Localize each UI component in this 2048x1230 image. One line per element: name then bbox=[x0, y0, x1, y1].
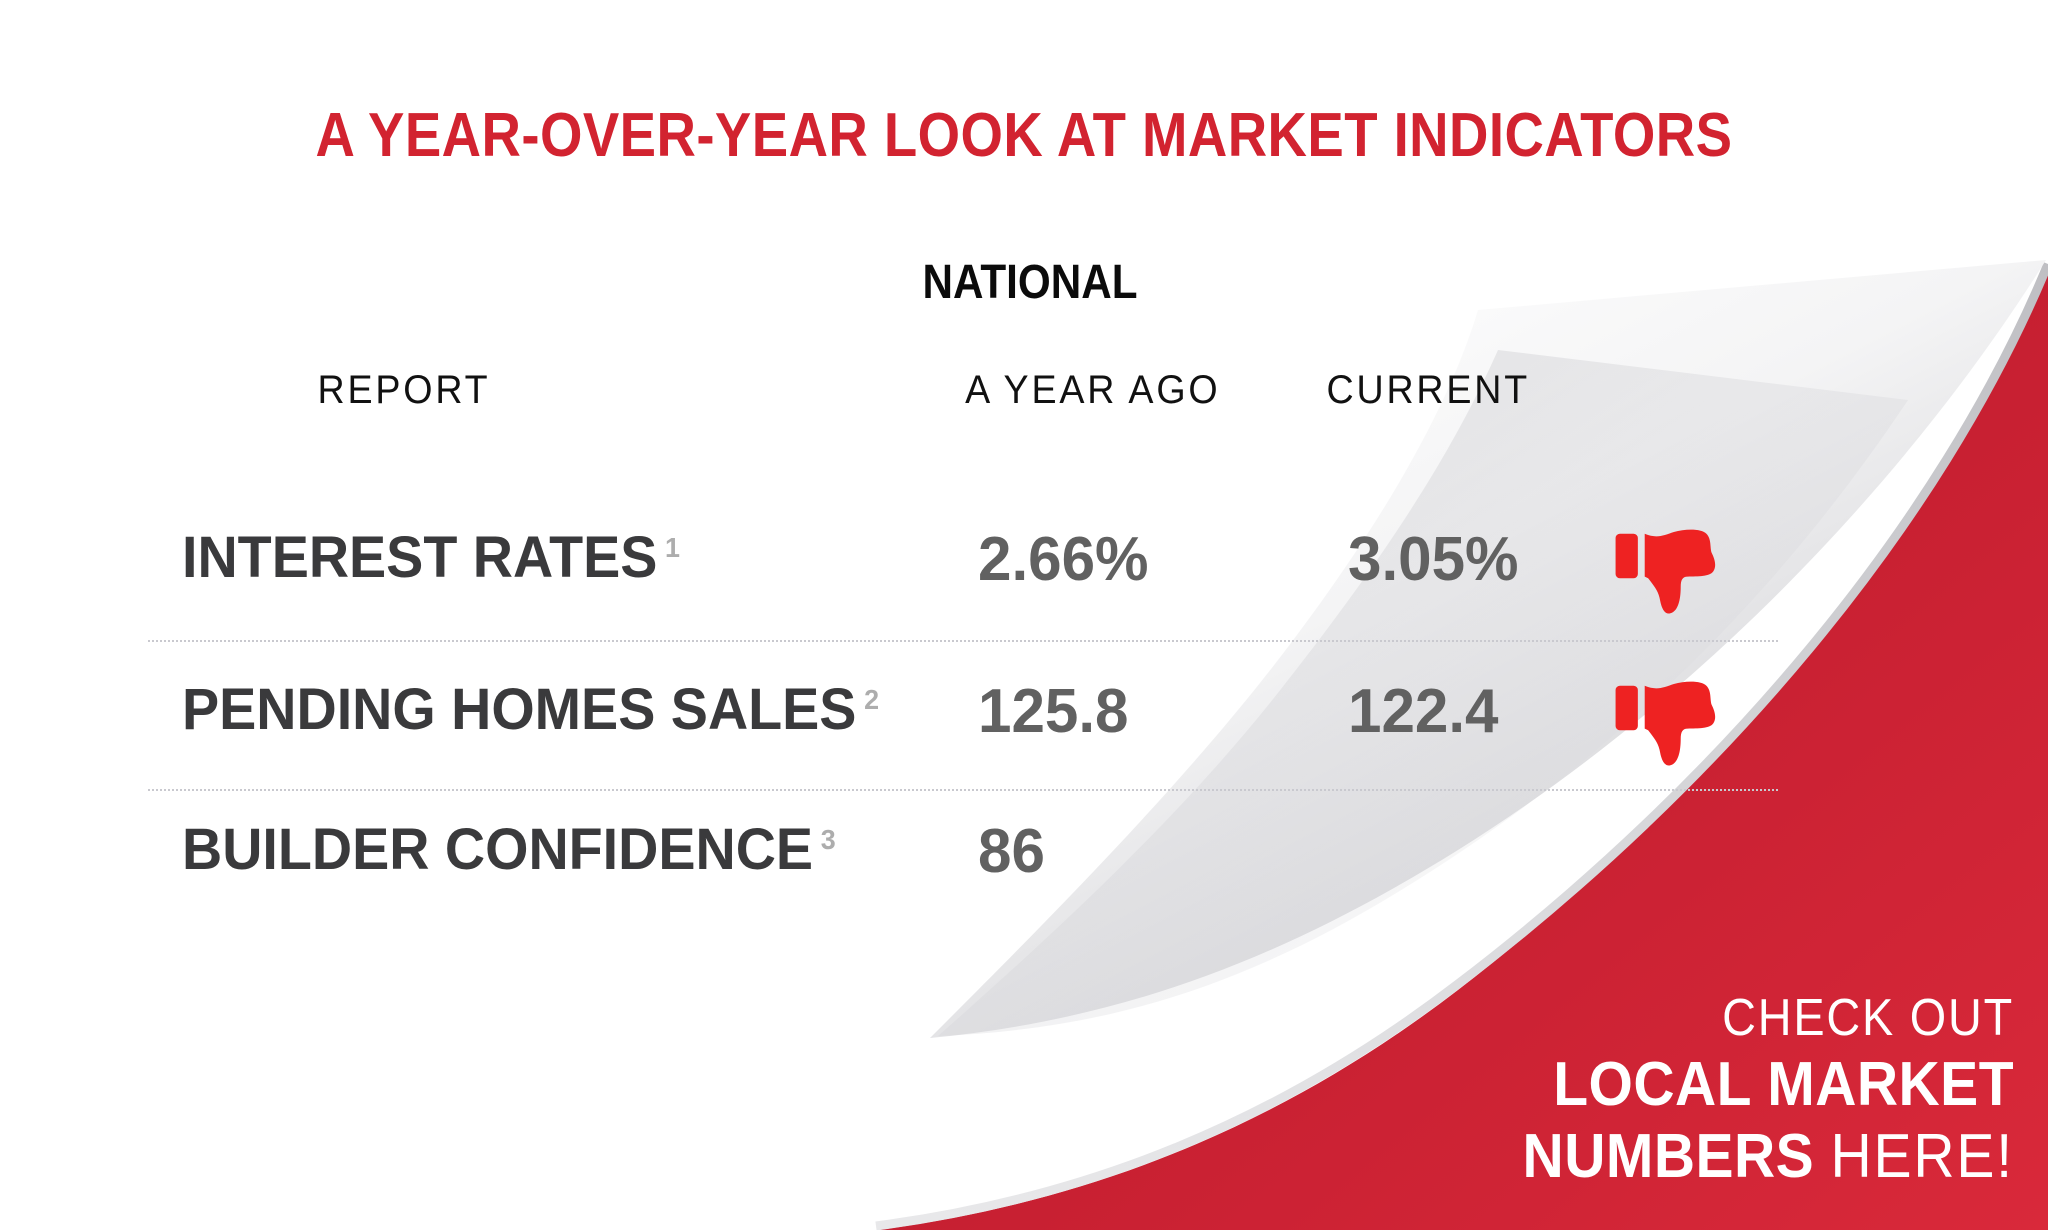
cta-line-local-market: LOCAL MARKET bbox=[1499, 1049, 2014, 1120]
cell-year-ago-value: 86 bbox=[978, 816, 1045, 887]
column-header-a-year-ago: A YEAR AGO bbox=[965, 368, 1220, 413]
cell-year-ago-value: 2.66% bbox=[978, 524, 1149, 595]
row-label-builder-confidence: BUILDER CONFIDENCE3 bbox=[182, 816, 836, 883]
table-row: INTEREST RATES1 2.66% 3.05% bbox=[0, 524, 2048, 664]
cell-year-ago-value: 125.8 bbox=[978, 676, 1129, 747]
thumbs-down-icon bbox=[1612, 520, 1722, 616]
table-row: PENDING HOMES SALES2 125.8 122.4 bbox=[0, 676, 2048, 816]
row-label-text: INTEREST RATES bbox=[182, 525, 657, 590]
column-header-report: REPORT bbox=[318, 368, 491, 413]
row-label-pending-homes-sales: PENDING HOMES SALES2 bbox=[182, 676, 879, 743]
slide-canvas: A YEAR-OVER-YEAR LOOK AT MARKET INDICATO… bbox=[0, 0, 2048, 1230]
footnote-superscript: 2 bbox=[864, 684, 879, 715]
cta-here-text: HERE! bbox=[1830, 1122, 2014, 1191]
row-label-text: BUILDER CONFIDENCE bbox=[182, 817, 813, 882]
cta-line-check-out: CHECK OUT bbox=[1510, 988, 2014, 1049]
cell-current-value: 3.05% bbox=[1348, 524, 1519, 595]
row-label-interest-rates: INTEREST RATES1 bbox=[182, 524, 680, 591]
cta-block[interactable]: CHECK OUT LOCAL MARKET NUMBERS HERE! bbox=[1454, 988, 2014, 1192]
thumbs-down-icon bbox=[1612, 672, 1722, 768]
table-row: BUILDER CONFIDENCE3 86 bbox=[0, 816, 2048, 956]
row-label-text: PENDING HOMES SALES bbox=[182, 677, 856, 742]
cell-current-value: 122.4 bbox=[1348, 676, 1499, 747]
cta-numbers-text: NUMBERS bbox=[1523, 1122, 1815, 1191]
footnote-superscript: 1 bbox=[665, 532, 680, 563]
cta-line-numbers-here: NUMBERS HERE! bbox=[1499, 1121, 2014, 1192]
column-header-current: CURRENT bbox=[1326, 368, 1530, 413]
footnote-superscript: 3 bbox=[821, 824, 836, 855]
